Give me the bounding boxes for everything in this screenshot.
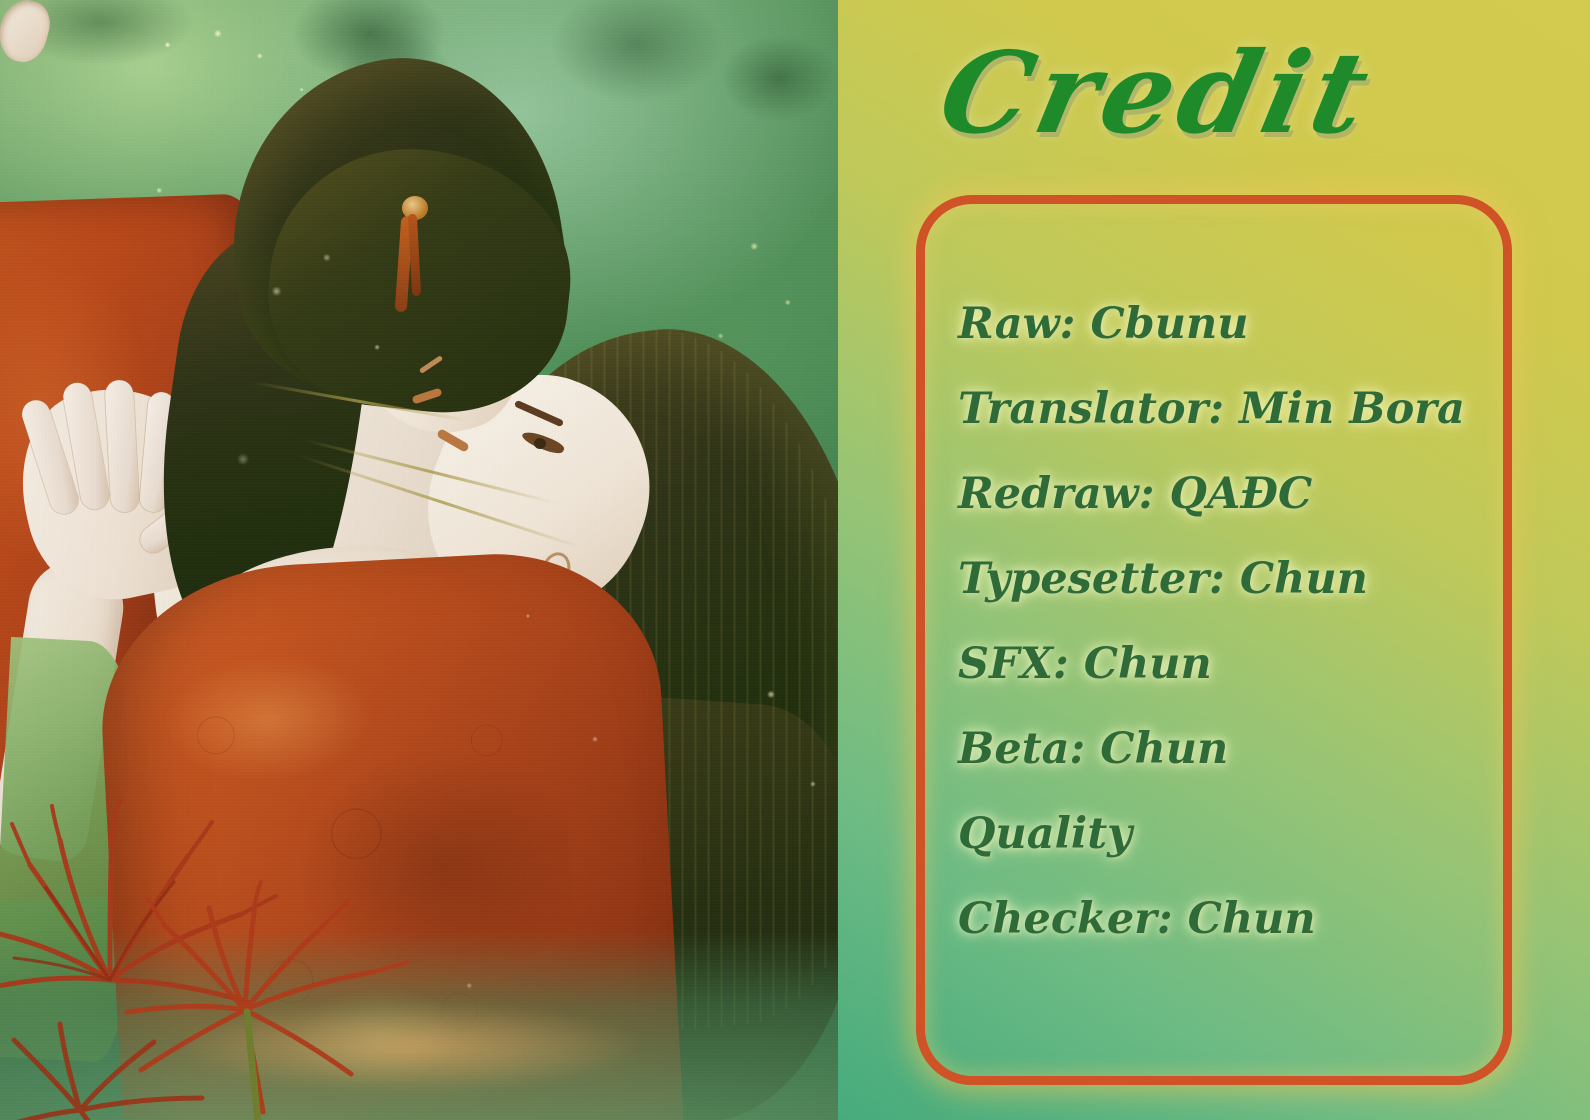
credit-page: Credit Raw: Cbunu Translator: Min Bora R…	[0, 0, 1590, 1120]
credit-line-typesetter: Typesetter: Chun	[958, 537, 1488, 622]
credit-line-raw: Raw: Cbunu	[958, 282, 1488, 367]
artwork-illustration	[0, 0, 838, 1120]
credit-line-translator: Translator: Min Bora	[958, 367, 1488, 452]
credit-panel: Credit Raw: Cbunu Translator: Min Bora R…	[838, 0, 1590, 1120]
credit-line-checker: Checker: Chun	[958, 877, 1488, 962]
artwork-vignette	[0, 0, 838, 1120]
credit-title: Credit	[929, 28, 1557, 159]
credit-line-sfx: SFX: Chun	[958, 622, 1488, 707]
credit-line-redraw: Redraw: QAĐC	[958, 452, 1488, 537]
credit-line-quality: Quality	[958, 792, 1488, 877]
credit-line-beta: Beta: Chun	[958, 707, 1488, 792]
credit-list: Raw: Cbunu Translator: Min Bora Redraw: …	[958, 282, 1488, 962]
